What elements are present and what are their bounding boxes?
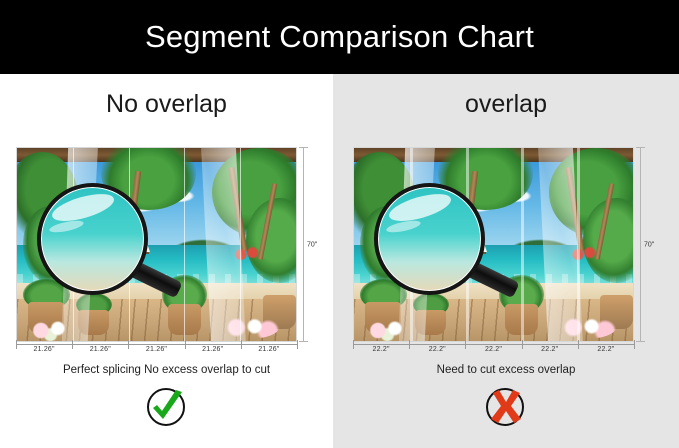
width-dimension-no-overlap: 21.26" 21.26" 21.26" 21.26" 21.26" — [16, 344, 297, 360]
mural-image — [353, 147, 634, 342]
comparison-panels: No overlap — [0, 74, 679, 448]
caption-overlap: Need to cut excess overlap — [333, 364, 679, 376]
cross-glyph — [484, 386, 528, 430]
segment-label: 21.26" — [72, 346, 128, 353]
segment-label: 22.2" — [578, 346, 634, 353]
width-dimension-line — [353, 344, 634, 345]
width-dimension-line — [16, 344, 297, 345]
width-tick-5 — [634, 340, 635, 349]
magnifier-icon — [37, 183, 149, 295]
mural-figure-overlap — [353, 147, 634, 342]
verdict-no-overlap — [0, 386, 333, 430]
height-dimension-no-overlap: 70" — [299, 147, 321, 342]
seam-3 — [184, 148, 185, 341]
verdict-overlap — [333, 386, 679, 430]
panel-overlap: overlap — [333, 74, 679, 448]
segment-label-row: 22.2" 22.2" 22.2" 22.2" 22.2" — [353, 346, 634, 353]
check-mark-icon — [145, 386, 189, 430]
seam-3 — [521, 148, 524, 341]
height-dimension-overlap: 70" — [636, 147, 658, 342]
seam-4 — [577, 148, 580, 341]
segment-label: 21.26" — [16, 346, 72, 353]
height-label: 70" — [644, 241, 654, 248]
height-dimension-line — [303, 147, 304, 342]
magnifier-lens — [374, 183, 486, 295]
page-title: Segment Comparison Chart — [145, 19, 534, 55]
height-tick-top — [636, 147, 645, 148]
title-banner: Segment Comparison Chart — [0, 0, 679, 74]
height-dimension-line — [640, 147, 641, 342]
mural-figure-no-overlap — [16, 147, 297, 342]
segment-label: 21.26" — [128, 346, 184, 353]
segment-label: 22.2" — [353, 346, 409, 353]
caption-no-overlap: Perfect splicing No excess overlap to cu… — [0, 364, 333, 376]
panel-heading-no-overlap: No overlap — [0, 90, 333, 119]
mural-image — [16, 147, 297, 342]
width-tick-5 — [297, 340, 298, 349]
seam-4 — [240, 148, 241, 341]
segment-label-row: 21.26" 21.26" 21.26" 21.26" 21.26" — [16, 346, 297, 353]
segment-comparison-chart: Segment Comparison Chart No overlap — [0, 0, 679, 448]
segment-label: 22.2" — [409, 346, 465, 353]
height-tick-top — [299, 147, 308, 148]
panel-no-overlap: No overlap — [0, 74, 333, 448]
segment-label: 21.26" — [241, 346, 297, 353]
segment-label: 21.26" — [185, 346, 241, 353]
check-glyph — [145, 386, 189, 430]
segment-label: 22.2" — [522, 346, 578, 353]
height-label: 70" — [307, 241, 317, 248]
magnifier-icon — [374, 183, 486, 295]
panel-heading-overlap: overlap — [333, 90, 679, 119]
height-tick-bottom — [299, 341, 308, 342]
segment-label: 22.2" — [465, 346, 521, 353]
width-dimension-overlap: 22.2" 22.2" 22.2" 22.2" 22.2" — [353, 344, 634, 360]
height-tick-bottom — [636, 341, 645, 342]
cross-mark-icon — [484, 386, 528, 430]
magnifier-lens — [37, 183, 149, 295]
